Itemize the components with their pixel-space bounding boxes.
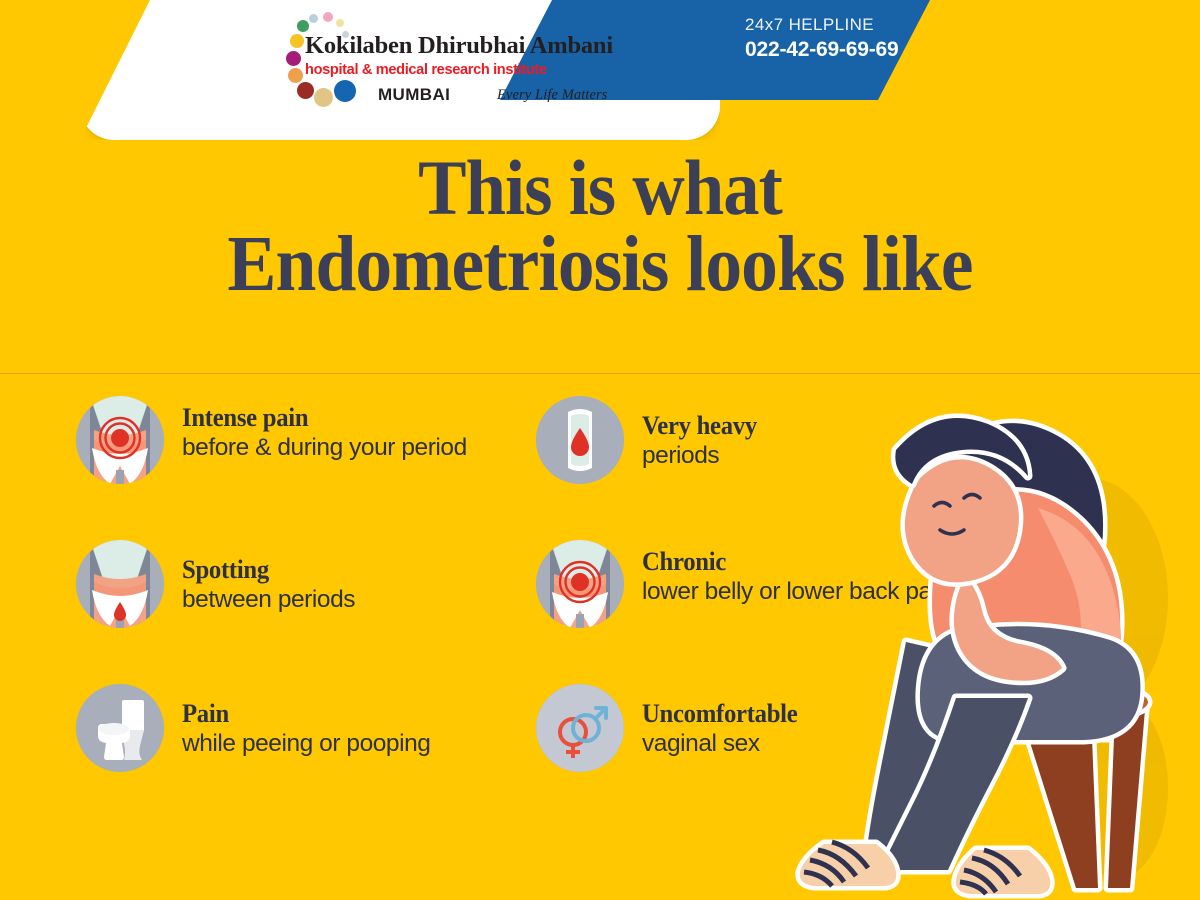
helpline-block: 24x7 HELPLINE 022-42-69-69-69	[745, 14, 898, 64]
title-line-2: Endometriosis looks like	[42, 226, 1158, 303]
symptom-detail-label: while peeing or pooping	[182, 730, 512, 759]
symptom-strong-label: Pain	[182, 700, 496, 728]
logo-city: MUMBAI	[378, 85, 450, 105]
symptom-strong-label: Spotting	[182, 556, 496, 584]
header: 24x7 HELPLINE 022-42-69-69-69 Kokilaben …	[0, 0, 1200, 140]
symptom-item-pain-urination: Pain while peeing or pooping	[76, 684, 506, 804]
sanitary-pad-icon	[536, 396, 624, 484]
helpline-number[interactable]: 022-42-69-69-69	[745, 36, 898, 64]
abdomen-pain-icon	[76, 396, 164, 484]
toilet-icon	[76, 684, 164, 772]
logo-subtitle: hospital & medical research institute	[305, 63, 635, 78]
title-line-1: This is what	[42, 150, 1158, 226]
symptom-strong-label: Intense pain	[182, 404, 496, 432]
symptom-text-intense-pain: Intense pain before & during your period	[182, 404, 512, 462]
spotting-icon	[76, 540, 164, 628]
symptom-detail-label: before & during your period	[182, 434, 512, 463]
abdomen-pain-icon	[536, 540, 624, 628]
symptom-text-spotting: Spotting between periods	[182, 556, 512, 614]
gender-symbols-icon	[536, 684, 624, 772]
section-divider	[0, 373, 1200, 374]
symptom-item-intense-pain: Intense pain before & during your period	[76, 396, 506, 540]
logo-text-block: Kokilaben Dhirubhai Ambani hospital & me…	[305, 34, 635, 109]
helpline-label: 24x7 HELPLINE	[745, 14, 898, 36]
symptoms-column-left: Intense pain before & during your period	[76, 396, 506, 804]
symptom-detail-label: between periods	[182, 586, 512, 615]
hospital-logo[interactable]: Kokilaben Dhirubhai Ambani hospital & me…	[285, 12, 625, 117]
woman-sitting-in-pain-illustration	[788, 398, 1200, 900]
logo-name: Kokilaben Dhirubhai Ambani	[305, 34, 635, 59]
infographic-poster: 24x7 HELPLINE 022-42-69-69-69 Kokilaben …	[0, 0, 1200, 900]
page-title: This is what Endometriosis looks like	[42, 150, 1158, 304]
symptom-text-pain-urination: Pain while peeing or pooping	[182, 700, 512, 758]
symptom-item-spotting: Spotting between periods	[76, 540, 506, 684]
logo-tagline: Every Life Matters	[497, 87, 608, 104]
